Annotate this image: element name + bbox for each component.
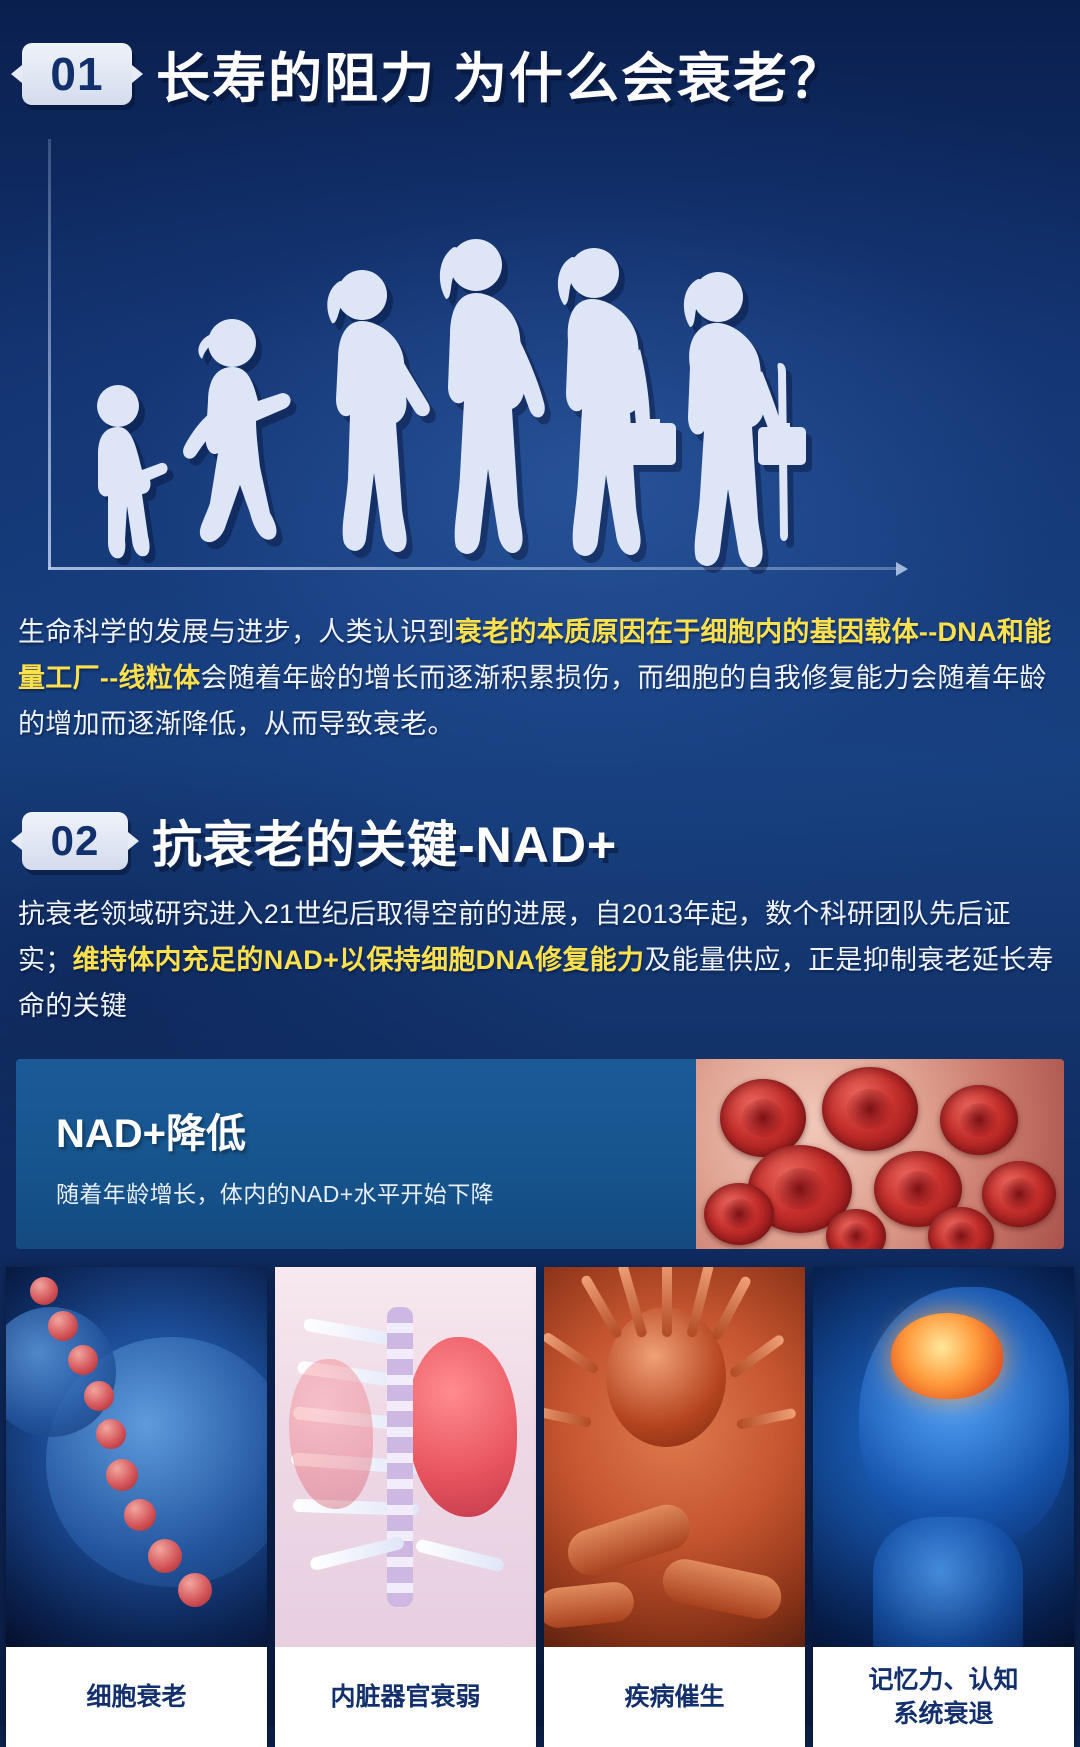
- nad-banner-title: NAD+降低: [56, 1101, 696, 1159]
- card-label-cell-aging: 细胞衰老: [6, 1647, 267, 1747]
- nad-decline-banner: NAD+降低 随着年龄增长，体内的NAD+水平开始下降: [16, 1059, 1064, 1249]
- organ-decline-image: [275, 1267, 536, 1647]
- para2-run-1-highlight: 维持体内充足的NAD+以保持细胞DNA修复能力: [73, 945, 645, 975]
- chart-x-axis: [48, 567, 898, 570]
- section-02-header: 02 抗衰老的关键-NAD+: [0, 805, 1080, 877]
- aging-progression-chart: [0, 131, 1080, 601]
- figure-child: [78, 382, 170, 567]
- section-01-paragraph: 生命科学的发展与进步，人类认识到衰老的本质原因在于细胞内的基因载体--DNA和能…: [0, 609, 1080, 747]
- section-01-header: 01 长寿的阻力 为什么会衰老？: [0, 0, 1080, 113]
- section-02-title: 抗衰老的关键-NAD+: [152, 805, 617, 877]
- card-label-organ-decline: 内脏器官衰弱: [275, 1647, 536, 1747]
- section-02-paragraph: 抗衰老领域研究进入21世纪后取得空前的进展，自2013年起，数个科研团队先后证实…: [0, 891, 1080, 1029]
- para1-run-0: 生命科学的发展与进步，人类认识到: [18, 617, 455, 647]
- section-01-badge: 01: [22, 43, 132, 105]
- nad-banner-subtitle: 随着年龄增长，体内的NAD+水平开始下降: [56, 1175, 696, 1209]
- card-cell-aging[interactable]: 细胞衰老: [6, 1267, 267, 1747]
- infographic-page: 01 长寿的阻力 为什么会衰老？: [0, 0, 1080, 1726]
- card-label-cognitive-decline: 记忆力、认知 系统衰退: [813, 1647, 1074, 1747]
- nad-banner-text: NAD+降低 随着年龄增长，体内的NAD+水平开始下降: [16, 1059, 696, 1249]
- red-blood-cells-image: [696, 1059, 1064, 1249]
- disease-onset-image: [544, 1267, 805, 1647]
- figure-middle-aged-with-bag: [538, 247, 678, 567]
- cell-aging-image: [6, 1267, 267, 1647]
- card-organ-decline[interactable]: 内脏器官衰弱: [275, 1267, 536, 1747]
- consequences-card-grid: 细胞衰老 内脏器官衰弱: [6, 1267, 1074, 1747]
- card-cognitive-decline[interactable]: 记忆力、认知 系统衰退: [813, 1267, 1074, 1747]
- figure-girl-running: [180, 317, 310, 567]
- cognitive-decline-image: [813, 1267, 1074, 1647]
- card-label-disease-onset: 疾病催生: [544, 1647, 805, 1747]
- section-01-title: 长寿的阻力 为什么会衰老？: [156, 34, 845, 113]
- section-02-badge: 02: [22, 812, 128, 870]
- card-disease-onset[interactable]: 疾病催生: [544, 1267, 805, 1747]
- chart-y-axis: [48, 139, 51, 569]
- figure-elderly-with-cane: [662, 267, 830, 567]
